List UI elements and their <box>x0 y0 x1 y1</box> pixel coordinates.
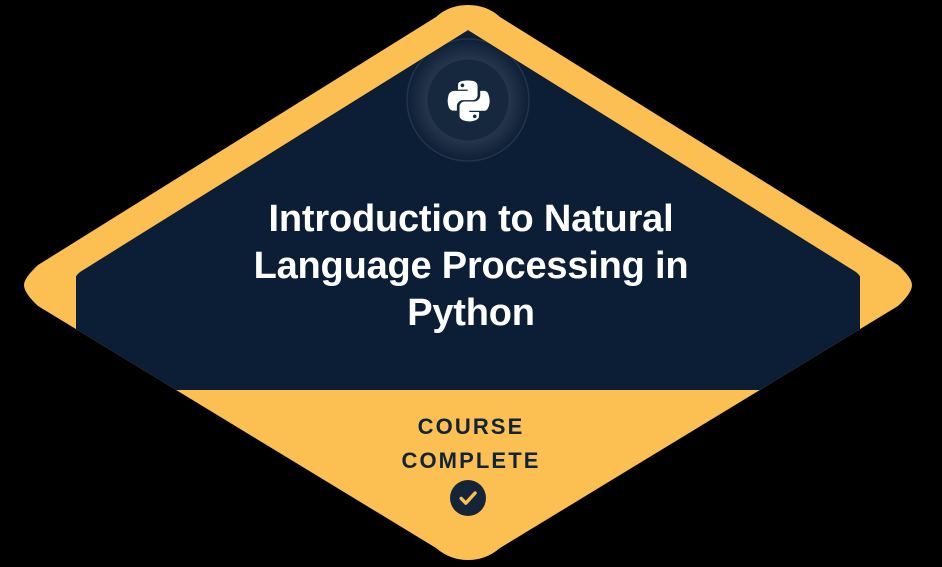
page-title: Introduction to Natural Language Process… <box>191 196 751 337</box>
python-logo-icon <box>446 78 490 122</box>
status-line: COMPLETE <box>221 444 721 478</box>
title-line: Language Processing in <box>191 243 751 290</box>
check-circle-icon <box>450 480 486 516</box>
status-line: COURSE <box>221 410 721 444</box>
certificate-badge: Introduction to Natural Language Process… <box>0 0 942 567</box>
title-line: Introduction to Natural <box>191 196 751 243</box>
status-badge: COURSE COMPLETE <box>221 410 721 478</box>
title-line: Python <box>191 290 751 337</box>
